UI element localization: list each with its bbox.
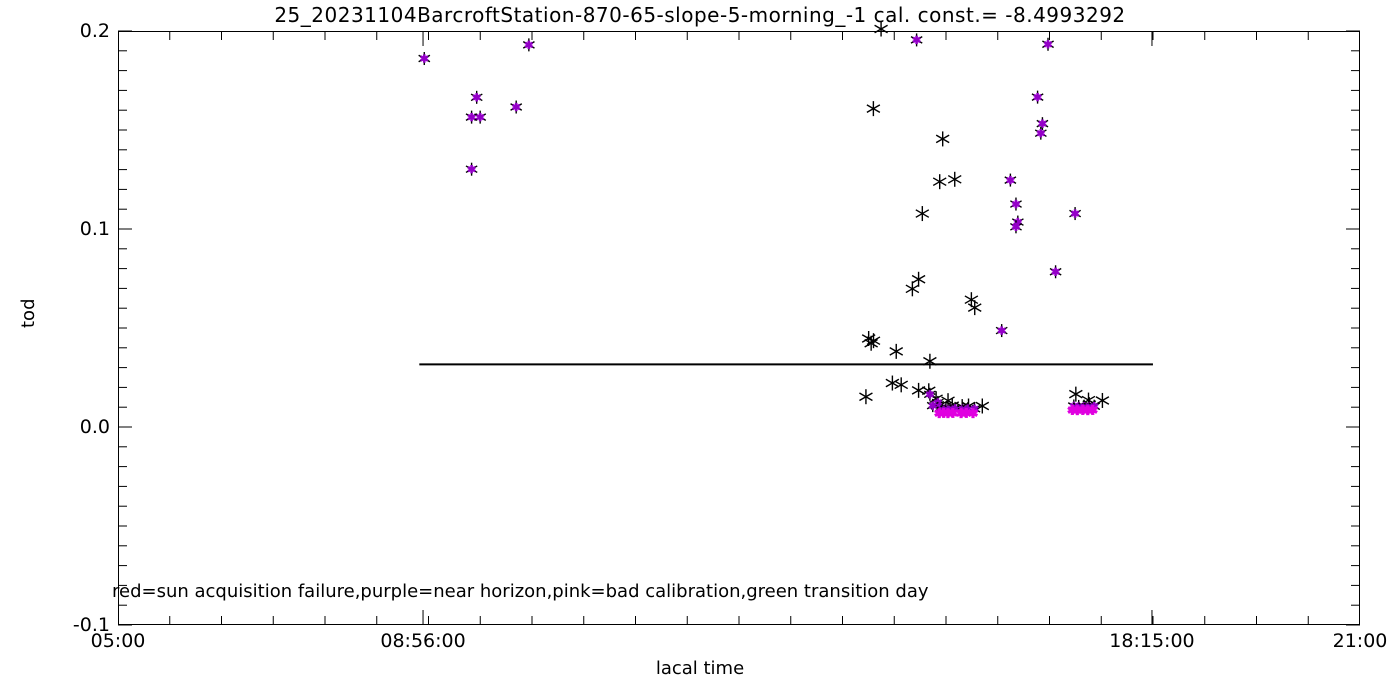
- chart-canvas: 25_20231104BarcroftStation-870-65-slope-…: [0, 0, 1400, 700]
- x-tick-label: 18:15:00: [1109, 630, 1194, 652]
- x-axis-label: lacal time: [0, 658, 1400, 679]
- plot-frame: [118, 31, 1360, 625]
- y-axis-label: tod: [18, 299, 39, 329]
- y-tick-label: 0.0: [30, 416, 110, 438]
- x-tick-label: 21:00: [1333, 630, 1388, 652]
- legend-annotation: red=sun acquisition failure,purple=near …: [112, 581, 929, 602]
- page-title: 25_20231104BarcroftStation-870-65-slope-…: [0, 3, 1400, 27]
- y-tick-label: 0.1: [30, 218, 110, 240]
- x-tick-label: 05:00: [91, 630, 146, 652]
- y-tick-label: 0.2: [30, 20, 110, 42]
- x-tick-label: 08:56:00: [380, 630, 465, 652]
